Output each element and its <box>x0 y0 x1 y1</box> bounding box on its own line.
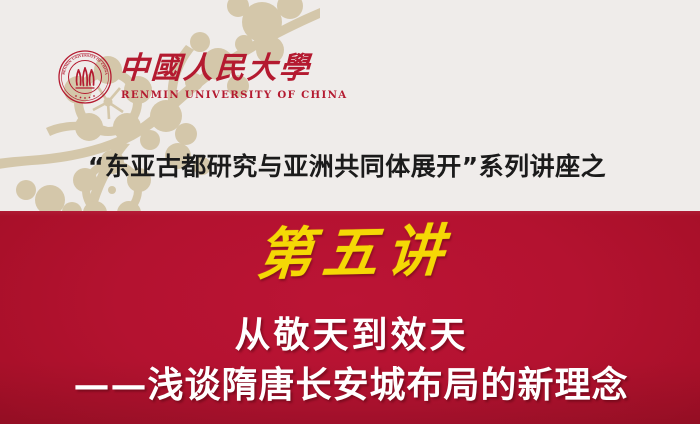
lecture-main-title: 从敬天到效天 <box>0 316 700 356</box>
lecture-sub-title: ——浅谈隋唐长安城布局的新理念 <box>0 366 700 406</box>
university-name-cn: 中國人民大學 <box>118 54 312 85</box>
university-logo: RENMIN UNIVERSITY OF CHINA <box>58 50 348 104</box>
lecture-poster: RENMIN UNIVERSITY OF CHINA <box>0 0 700 424</box>
poster-header-panel: RENMIN UNIVERSITY OF CHINA <box>0 0 700 211</box>
renmin-university-seal-icon: RENMIN UNIVERSITY OF CHINA <box>58 50 112 104</box>
university-wordmark: 中國人民大學 RENMIN UNIVERSITY OF CHINA <box>119 54 348 102</box>
lecture-series-title: “东亚古都研究与亚洲共同体展开”系列讲座之 <box>0 147 700 183</box>
university-name-en: RENMIN UNIVERSITY OF CHINA <box>121 89 348 101</box>
